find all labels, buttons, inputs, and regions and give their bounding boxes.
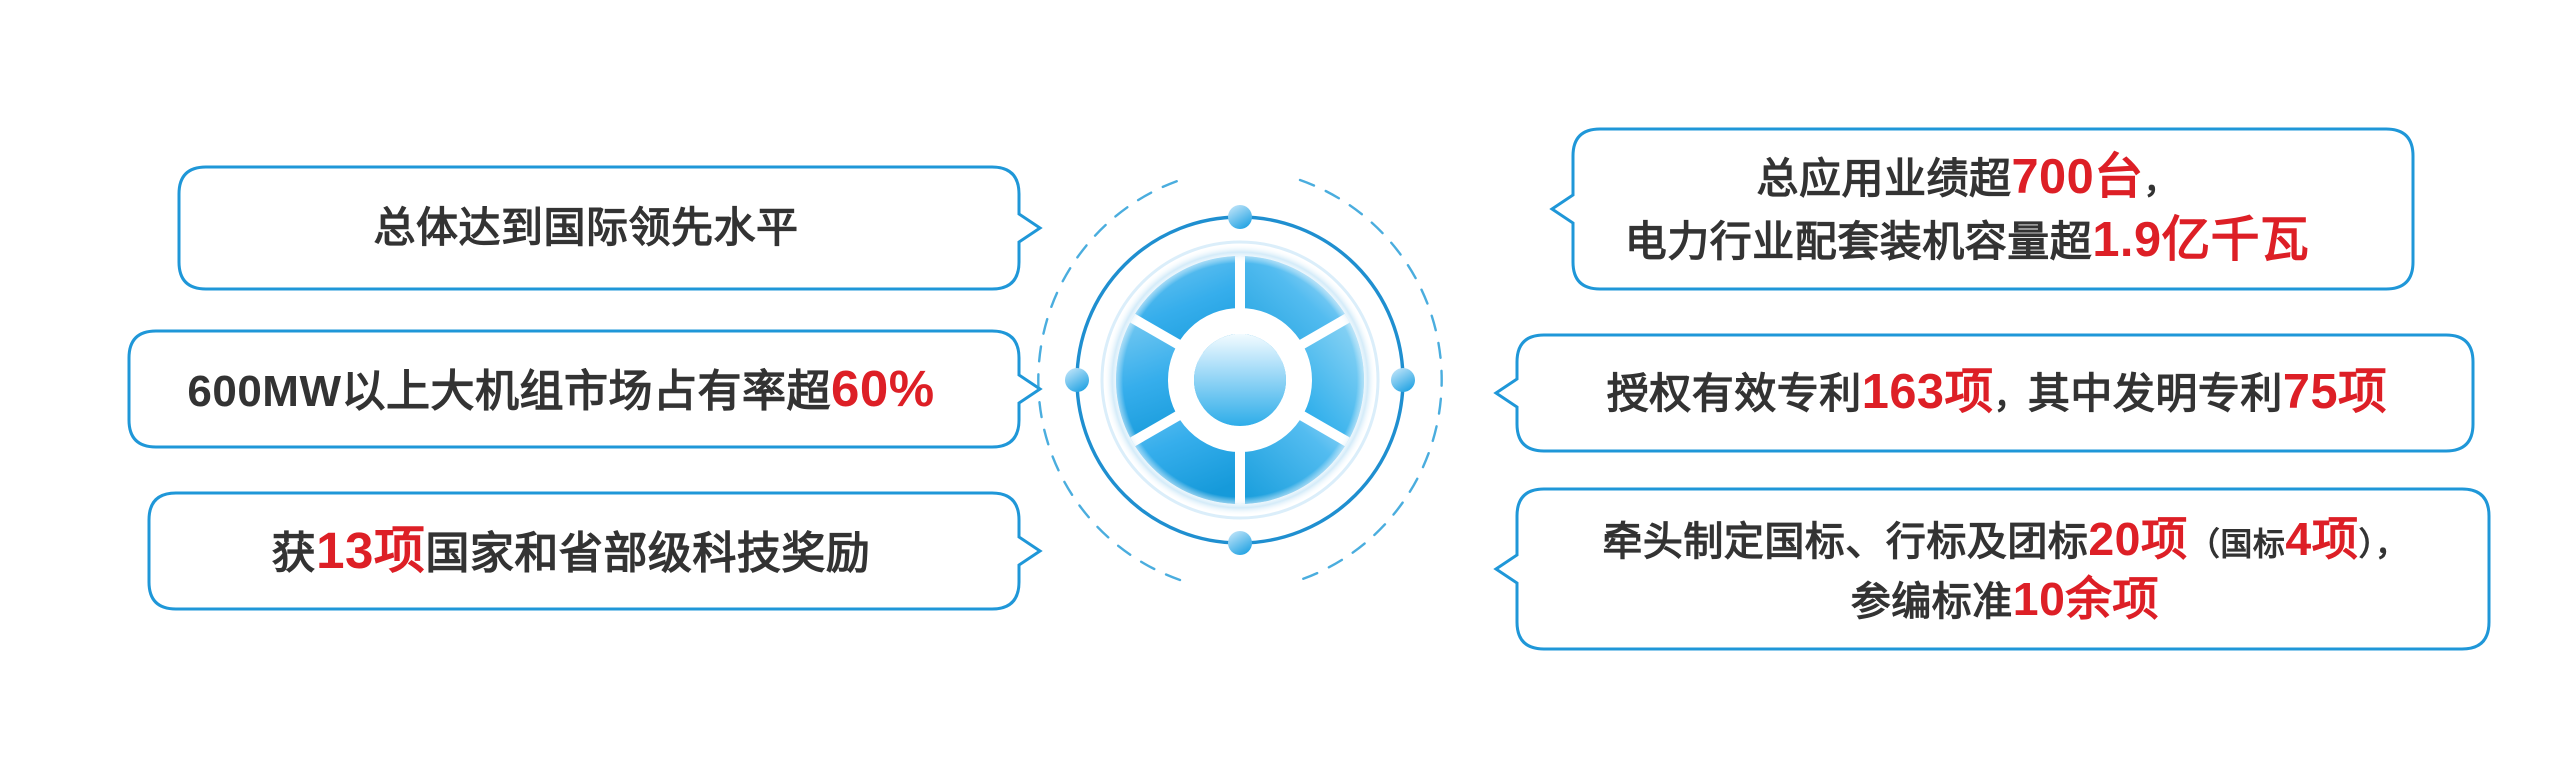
- card-text-4: 总应用业绩超700台，电力行业配套装机容量超1.9亿千瓦: [1583, 146, 2325, 273]
- label-text: （国标: [2188, 526, 2286, 562]
- highlight-value: 1.9亿千瓦: [2092, 213, 2309, 267]
- highlight-value: 4项: [2285, 513, 2358, 565]
- highlight-value: 60%: [831, 360, 935, 417]
- card-6-line-2: 参编标准10余项: [1602, 569, 2407, 629]
- highlight-value: 20项: [2088, 513, 2188, 565]
- ring-fade: [1104, 244, 1376, 516]
- label-text: ）: [2359, 526, 2376, 562]
- card-2-line-1: 600MW以上大机组市场占有率超60%: [187, 356, 934, 422]
- card-5-line-1: 授权有效专利163项，其中发明专利75项: [1607, 361, 2388, 424]
- orbit-dot-left: [1065, 368, 1089, 392]
- label-text: 600MW以上大机组市场占有率超: [187, 367, 831, 416]
- stat-card-4[interactable]: 总应用业绩超700台，电力行业配套装机容量超1.9亿千瓦: [1494, 128, 2414, 290]
- label-text: ，: [2375, 526, 2408, 562]
- orbit-dot-top: [1228, 205, 1252, 229]
- infographic-canvas: 总体达到国际领先水平 600MW以上大机组市场占有率超60% 获13项国家和省部…: [0, 0, 2573, 757]
- label-text: ，: [1994, 379, 2028, 416]
- highlight-value: 163项: [1862, 365, 1994, 419]
- highlight-value: 75项: [2283, 365, 2387, 419]
- segmented-wheel-icon: [1018, 158, 1462, 602]
- card-text-5: 授权有效专利163项，其中发明专利75项: [1565, 361, 2404, 424]
- label-text: 其中发明专利: [2028, 370, 2283, 417]
- highlight-value: 10余项: [2013, 573, 2159, 625]
- card-text-1: 总体达到国际领先水平: [357, 201, 840, 256]
- card-1-line-1: 总体达到国际领先水平: [373, 201, 798, 256]
- label-text: 国家和省部级科技奖励: [425, 529, 870, 578]
- label-text: 总体达到国际领先水平: [373, 204, 798, 251]
- orbit-dot-bottom: [1228, 531, 1252, 555]
- highlight-value: 700台: [2011, 150, 2143, 204]
- card-text-6: 牵头制定国标、行标及团标20项（国标4项），参编标准10余项: [1560, 509, 2423, 630]
- label-text: 牵头制定国标、行标及团标: [1602, 520, 2088, 564]
- stat-card-2[interactable]: 600MW以上大机组市场占有率超60%: [128, 330, 1020, 448]
- card-text-3: 获13项国家和省部级科技奖励: [256, 518, 913, 584]
- stat-card-1[interactable]: 总体达到国际领先水平: [178, 166, 1020, 290]
- label-text: 参编标准: [1851, 580, 2013, 624]
- stat-card-6[interactable]: 牵头制定国标、行标及团标20项（国标4项），参编标准10余项: [1494, 488, 2490, 650]
- label-text: 电力行业配套装机容量超: [1625, 218, 2093, 265]
- label-text: 获: [272, 529, 317, 578]
- highlight-value: 13项: [316, 522, 425, 579]
- card-text-2: 600MW以上大机组市场占有率超60%: [171, 356, 976, 422]
- card-6-line-1: 牵头制定国标、行标及团标20项（国标4项），: [1602, 509, 2407, 569]
- label-text: ，: [2143, 164, 2177, 201]
- label-text: 总应用业绩超: [1756, 155, 2011, 202]
- card-4-line-2: 电力行业配套装机容量超1.9亿千瓦: [1625, 209, 2309, 272]
- stat-card-3[interactable]: 获13项国家和省部级科技奖励: [148, 492, 1020, 610]
- card-4-line-1: 总应用业绩超700台，: [1625, 146, 2309, 209]
- card-3-line-1: 获13项国家和省部级科技奖励: [272, 518, 871, 584]
- label-text: 授权有效专利: [1607, 370, 1862, 417]
- orbit-dot-right: [1391, 368, 1415, 392]
- stat-card-5[interactable]: 授权有效专利163项，其中发明专利75项: [1494, 334, 2474, 452]
